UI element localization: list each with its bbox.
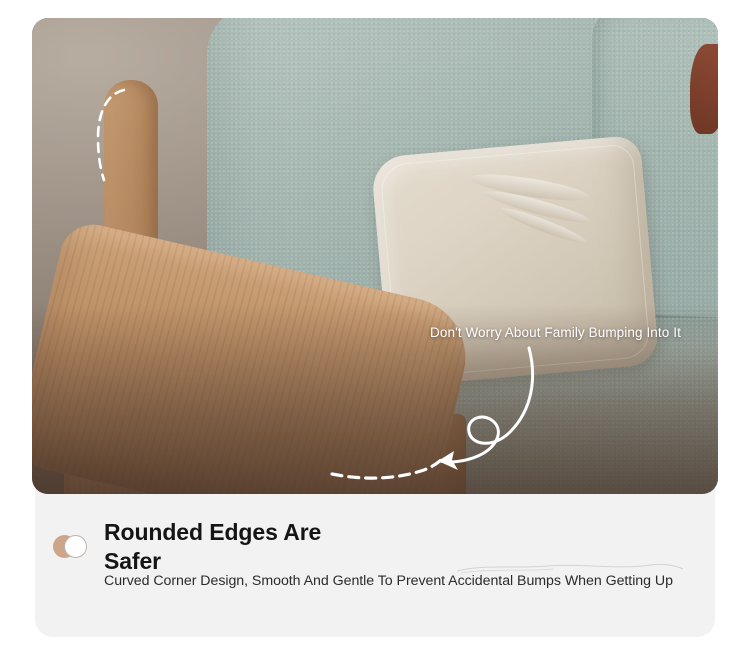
product-photo[interactable] [32,18,718,494]
feature-heading: Rounded Edges Are Safer [104,518,524,577]
photo-scene [32,18,718,494]
product-feature-panel: Don't Worry About Family Bumping Into It… [0,0,750,662]
overlapping-circles-icon [53,533,87,560]
feature-subtitle: Curved Corner Design, Smooth And Gentle … [104,573,704,589]
feature-heading-line-1: Rounded Edges Are [104,518,524,547]
right-edge-wood-accent [690,44,718,134]
circle-outline-shape [64,535,87,558]
photo-overlay-caption: Don't Worry About Family Bumping Into It [430,325,681,340]
